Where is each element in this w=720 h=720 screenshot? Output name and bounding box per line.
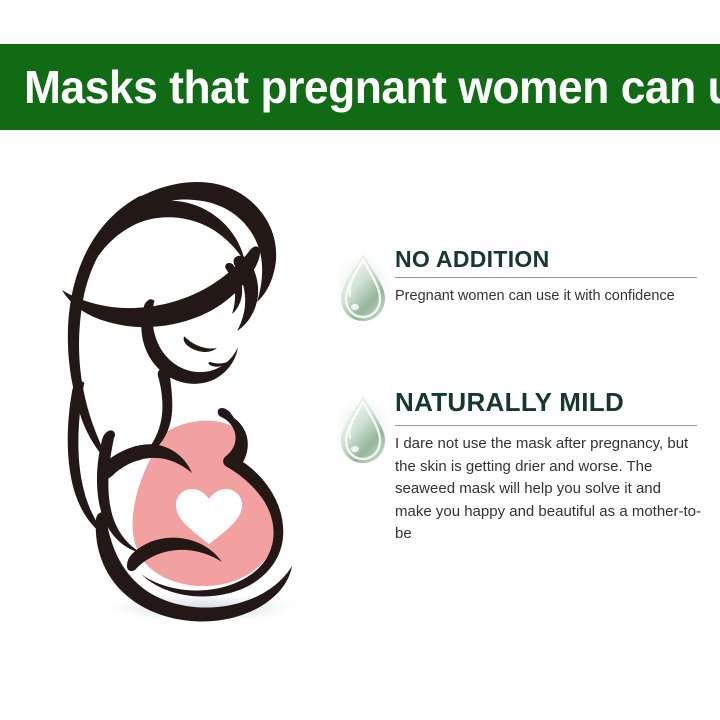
feature-description: Pregnant women can use it with confidenc… [395,285,701,307]
feature-divider [395,425,697,426]
feature-heading: NO ADDITION [395,246,720,272]
feature-description: I dare not use the mask after pregnancy,… [395,433,701,546]
water-drop-icon [330,388,396,470]
product-infographic-page: Masks that pregnant women can use [0,0,720,720]
feature-text-group: NO ADDITION Pregnant women can use it wi… [395,246,720,307]
header-banner: Masks that pregnant women can use [0,44,720,130]
water-drop-icon [330,246,396,328]
pregnant-woman-illustration [38,170,358,650]
page-title: Masks that pregnant women can use [24,63,720,111]
feature-heading: NATURALLY MILD [395,388,720,417]
feature-text-group: NATURALLY MILD I dare not use the mask a… [395,388,720,546]
feature-divider [395,277,697,278]
